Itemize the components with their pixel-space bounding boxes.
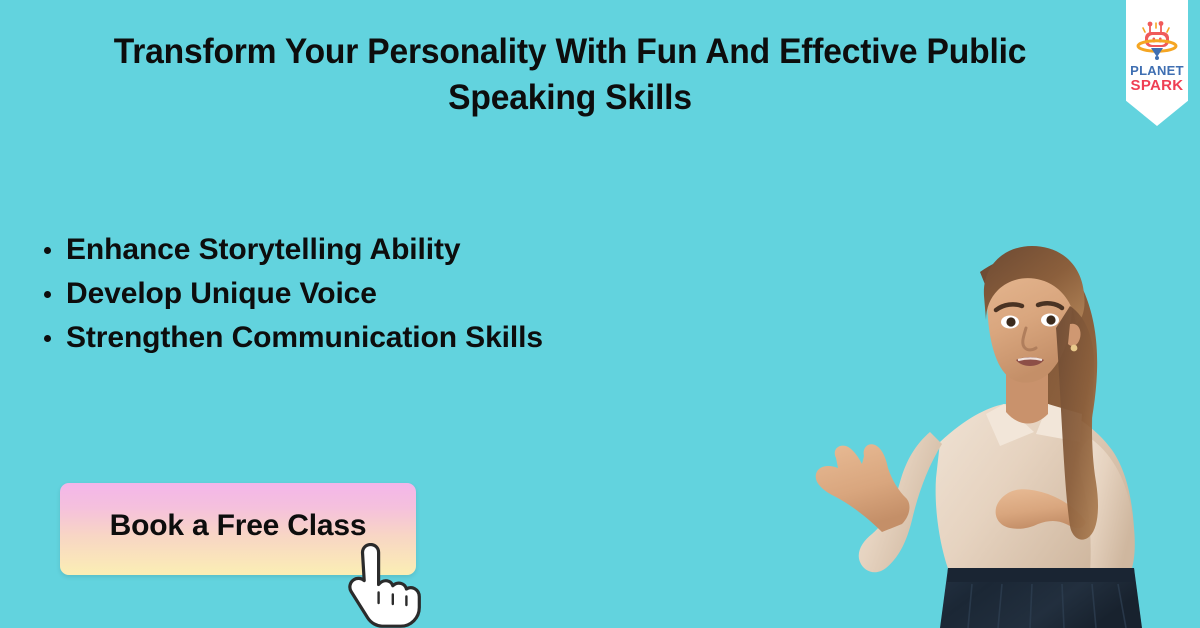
bullet-dot-icon — [44, 291, 51, 298]
list-item-label: Develop Unique Voice — [66, 277, 377, 310]
benefits-list: Enhance Storytelling Ability Develop Uni… — [40, 228, 600, 360]
page-title: Transform Your Personality With Fun And … — [52, 29, 1089, 121]
list-item: Develop Unique Voice — [40, 272, 600, 316]
logo-text-spark: SPARK — [1131, 79, 1184, 92]
list-item: Enhance Storytelling Ability — [40, 228, 600, 272]
bullet-dot-icon — [44, 335, 51, 342]
cta-button-label: Book a Free Class — [110, 509, 367, 543]
list-item-label: Enhance Storytelling Ability — [66, 233, 460, 266]
logo-text-planet: PLANET — [1130, 64, 1184, 77]
planetspark-logo[interactable]: PLANET SPARK — [1126, 0, 1188, 126]
list-item: Strengthen Communication Skills — [40, 316, 600, 360]
robot-mascot-icon — [1135, 20, 1179, 60]
girl-speaking-photo — [790, 232, 1200, 628]
book-free-class-button[interactable]: Book a Free Class — [60, 483, 416, 575]
list-item-label: Strengthen Communication Skills — [66, 321, 543, 354]
bullet-dot-icon — [44, 247, 51, 254]
promo-banner: Transform Your Personality With Fun And … — [0, 0, 1200, 628]
